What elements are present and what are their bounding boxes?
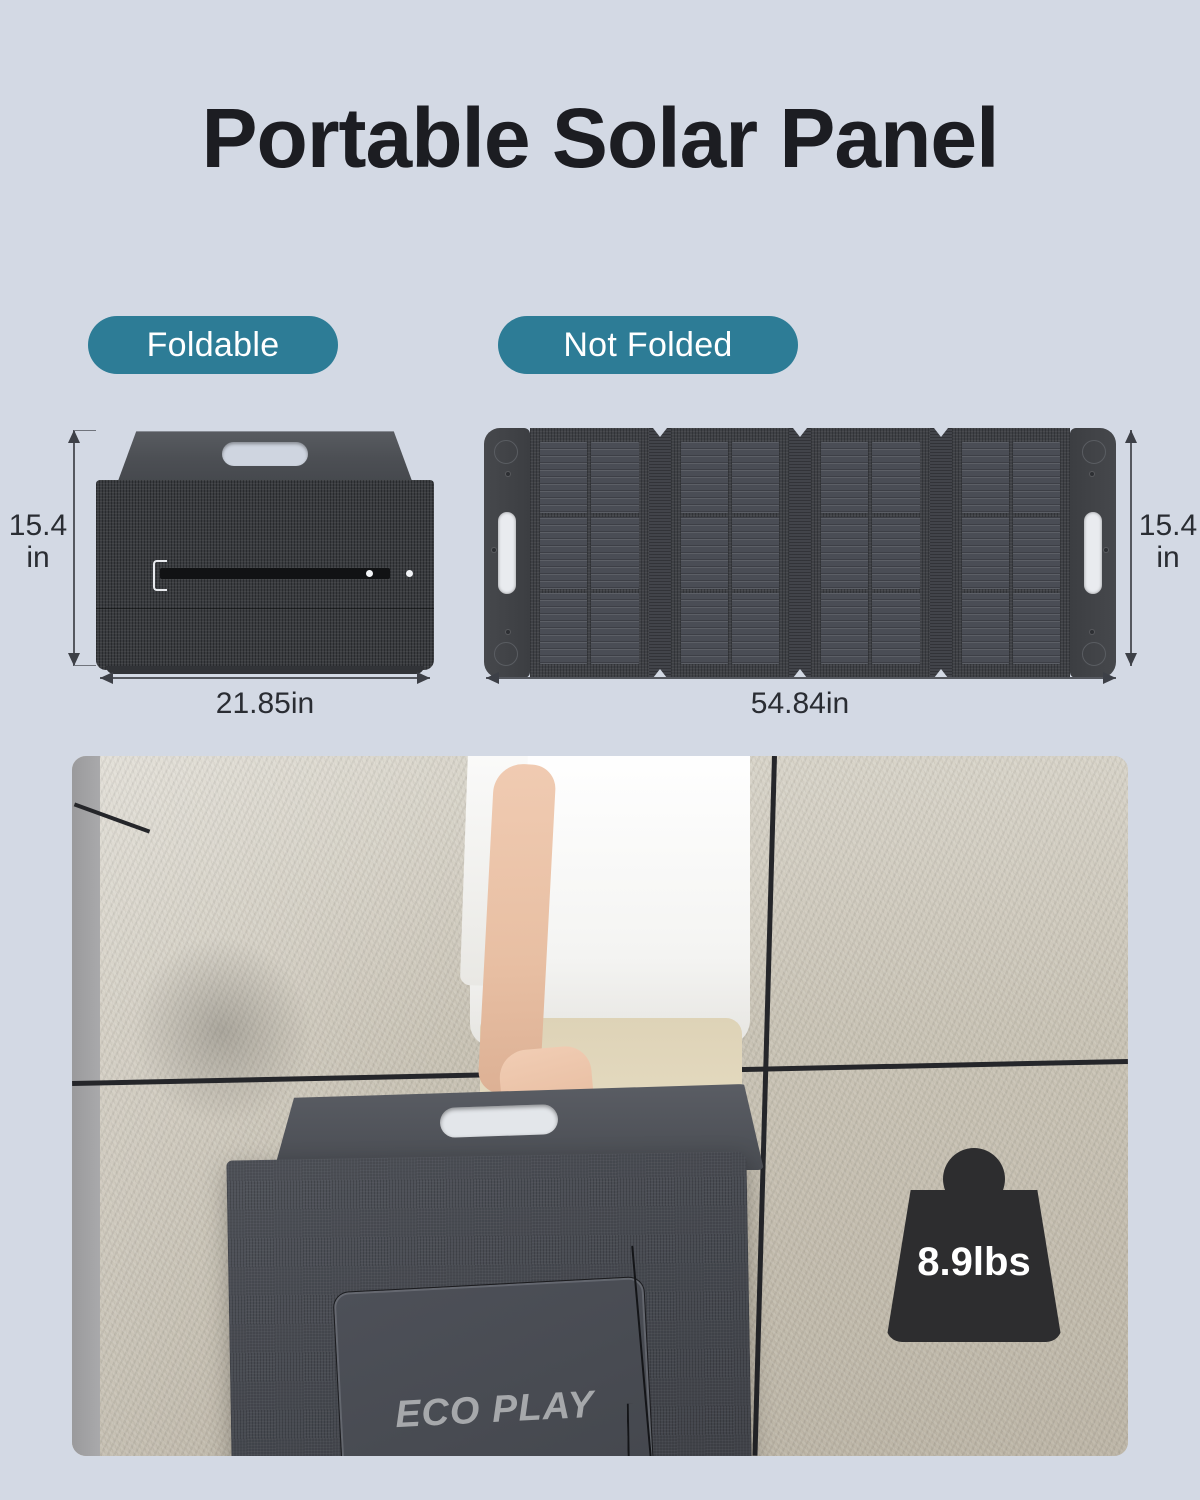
unfolded-height-value: 15.4 <box>1136 510 1200 542</box>
fold-section-4 <box>952 428 1071 678</box>
solar-cell <box>872 442 919 513</box>
badge-foldable: Foldable <box>88 316 338 374</box>
corner-ring <box>494 440 518 464</box>
solar-cell <box>591 517 638 588</box>
solar-cell <box>681 517 728 588</box>
solar-cell <box>821 517 868 588</box>
solar-cell <box>732 517 779 588</box>
bag-strap <box>160 568 390 579</box>
carry-handle-slot <box>222 442 308 466</box>
carried-solar-panel-bag: ECO PLAY <box>230 1084 790 1456</box>
weight-value: 8.9lbs <box>886 1240 1062 1285</box>
handle-slot-icon <box>498 512 516 594</box>
brand-logo-text: ECO PLAY <box>339 1381 651 1440</box>
corner-ring <box>494 642 518 666</box>
folded-width-arrow <box>100 672 430 684</box>
folded-panel-illustration <box>96 428 434 678</box>
corner-ring <box>1082 440 1106 464</box>
unfolded-width-label: 54.84in <box>660 688 940 720</box>
bag-front-pocket: ECO PLAY <box>332 1276 657 1456</box>
solar-cell <box>732 593 779 664</box>
screw <box>1090 630 1094 634</box>
screw <box>1104 548 1108 552</box>
unfolded-width-arrow <box>486 672 1116 684</box>
solar-cell <box>962 442 1009 513</box>
solar-cell <box>540 593 587 664</box>
solar-cell <box>821 593 868 664</box>
unfolded-panel-illustration <box>484 428 1116 678</box>
photo-left-edge-band <box>72 756 100 1456</box>
folded-bag-body <box>96 480 434 670</box>
solar-cell <box>591 593 638 664</box>
folded-height-unit: in <box>6 542 70 574</box>
folded-height-tick-bottom <box>74 665 96 666</box>
corner-ring <box>1082 642 1106 666</box>
screw <box>506 472 510 476</box>
bag-main-body: ECO PLAY <box>226 1151 753 1456</box>
lifestyle-photo: ECO PLAY <box>72 756 1128 1456</box>
solar-cell <box>540 442 587 513</box>
fold-section-2 <box>671 428 790 678</box>
bag-rivet <box>366 570 373 577</box>
solar-cell <box>1013 442 1060 513</box>
solar-cell <box>962 593 1009 664</box>
solar-cell <box>1013 517 1060 588</box>
fold-hinge <box>649 428 671 678</box>
fold-hinge <box>789 428 811 678</box>
screw <box>492 548 496 552</box>
solar-cell <box>732 442 779 513</box>
page-title: Portable Solar Panel <box>0 96 1200 180</box>
solar-cell <box>681 442 728 513</box>
bag-cable-loop <box>627 1403 657 1456</box>
bag-handle-slot <box>440 1104 559 1138</box>
folded-top-cap <box>104 428 426 484</box>
bag-rivet <box>406 570 413 577</box>
solar-cell <box>681 593 728 664</box>
fold-section-1 <box>530 428 649 678</box>
folded-height-tick-top <box>74 430 96 431</box>
solar-cell <box>821 442 868 513</box>
badge-not-folded: Not Folded <box>498 316 798 374</box>
folded-height-label: 15.4 in <box>6 510 70 575</box>
folded-height-value: 15.4 <box>6 510 70 542</box>
solar-cell <box>872 593 919 664</box>
solar-cell <box>591 442 638 513</box>
bag-seam <box>96 608 434 609</box>
unfolded-height-unit: in <box>1136 542 1200 574</box>
panel-side-handle-left <box>484 428 530 678</box>
handle-slot-icon <box>1084 512 1102 594</box>
fold-section-3 <box>811 428 930 678</box>
solar-cell <box>962 517 1009 588</box>
unfolded-height-label: 15.4 in <box>1136 510 1200 575</box>
solar-cell <box>540 517 587 588</box>
weight-badge: 8.9lbs <box>886 1148 1062 1342</box>
solar-cell <box>1013 593 1060 664</box>
folded-width-label: 21.85in <box>135 688 395 720</box>
bag-buckle-icon <box>153 560 167 591</box>
panel-side-handle-right <box>1070 428 1116 678</box>
solar-cell <box>872 517 919 588</box>
screw <box>506 630 510 634</box>
screw <box>1090 472 1094 476</box>
fold-hinge <box>930 428 952 678</box>
